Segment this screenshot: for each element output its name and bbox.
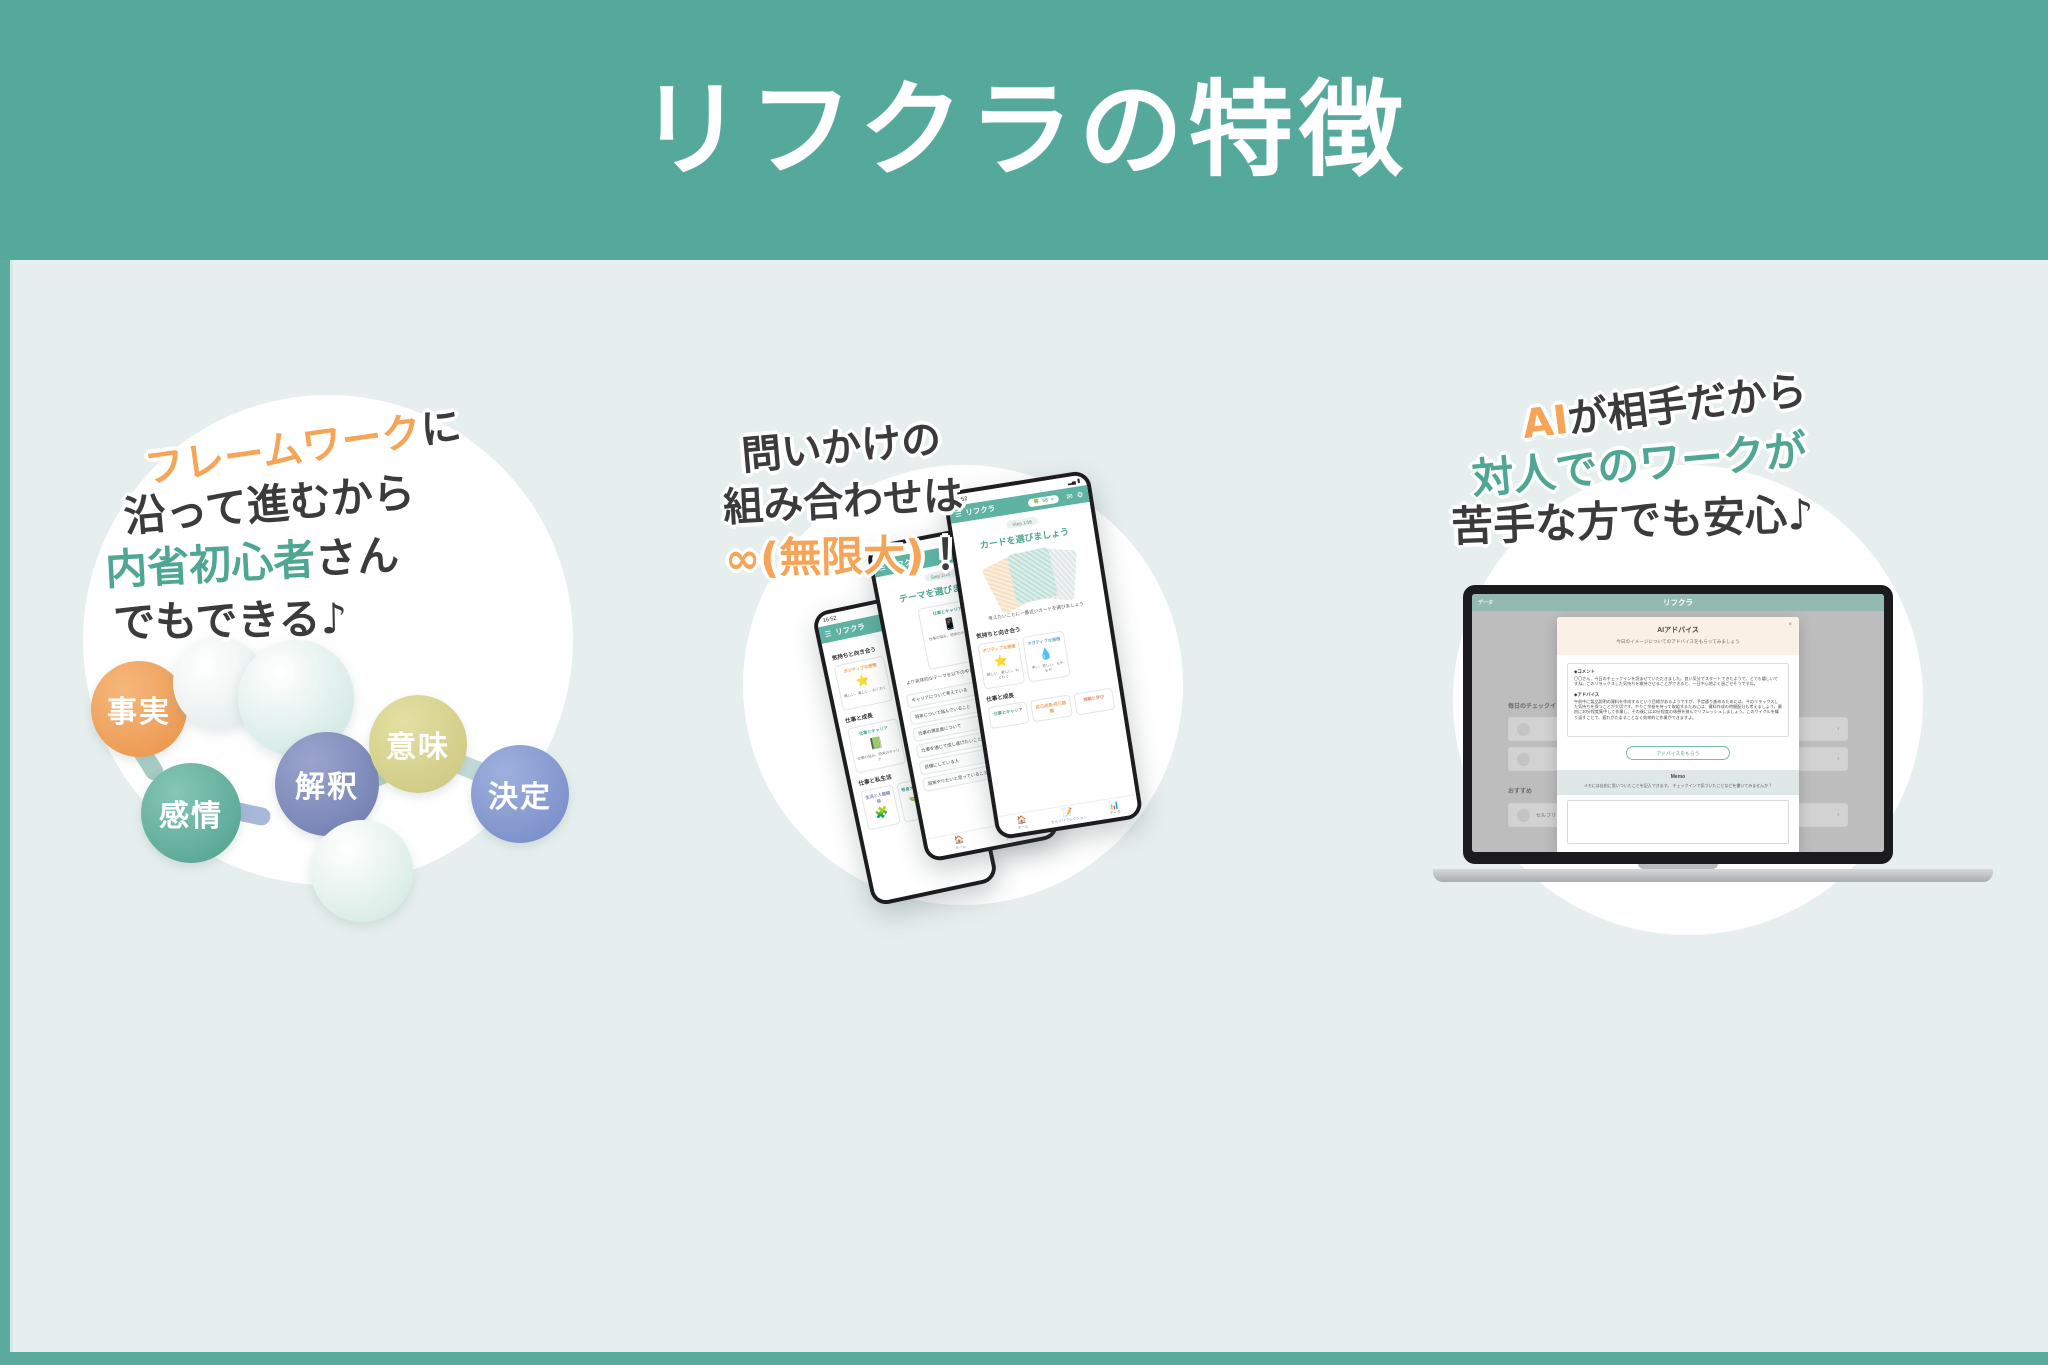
chevron-right-icon: › [1837, 812, 1839, 818]
page-banner: リフクラの特徴 [0, 0, 2048, 260]
node-emotion-label: 感情 [159, 791, 223, 835]
nav-item-reflection[interactable]: 📝 セルフリフレクション [1044, 805, 1092, 826]
panel3-caption-line3: 苦手な方でも安心♪ [1450, 481, 1815, 555]
laptop-topbar-title: リフクラ [1663, 597, 1693, 608]
laptop-bg-section-label-1: 毎日のチェックイン [1508, 701, 1562, 710]
close-icon[interactable]: × [1788, 622, 1792, 628]
phone-front-card-career[interactable]: 仕事とキャリア [988, 701, 1030, 729]
phone-front-card-challenge[interactable]: 挑戦と学び [1073, 688, 1115, 716]
node-blank-bottom [311, 820, 413, 922]
poster-root: リフクラの特徴 事実 感情 解釈 [0, 0, 2048, 1365]
frame-left-edge [0, 260, 10, 1365]
phone-front-points-pill[interactable]: 🍀 58 + [1028, 494, 1060, 507]
body-panel: 事実 感情 解釈 意味 決定 フレームワークに 沿って進むから [10, 260, 2048, 1352]
phone-front-status-icons: ▂▄ ▮ [1067, 478, 1080, 486]
feature-panel-ai: データ リフクラ 毎日のチェックイン › [1393, 335, 2033, 1035]
frame-bottom-edge [0, 1352, 2048, 1365]
feature-panel-questions: 16:52 ▂▄ ▮ ☰ リフクラ 🍀 58 気持ちと向き合う [713, 335, 1313, 1035]
phone-back-time: 16:52 [822, 615, 837, 624]
get-advice-button[interactable]: アドバイスをもらう [1626, 746, 1730, 760]
phone-front-app-title: リフクラ [965, 503, 996, 519]
laptop-mockup: データ リフクラ 毎日のチェックイン › [1463, 585, 1893, 882]
node-decision-label: 決定 [488, 772, 552, 816]
nav-item-data[interactable]: 📊 データ [1090, 798, 1138, 819]
plus-icon[interactable]: + [1050, 496, 1054, 502]
ai-advice-comment-body: 〇〇さん、今日のチェックインを読ませていただきました。良い気分でスタートできたよ… [1574, 676, 1782, 687]
node-interpretation-label: 解釈 [295, 762, 359, 806]
feature-panel-framework: 事実 感情 解釈 意味 決定 フレームワークに 沿って進むから [53, 375, 673, 1015]
star-icon: ⭐ [983, 652, 1020, 670]
phone-back-card-career[interactable]: 仕事とキャリア 📗 仕事の悩み、将来のキャリア [847, 718, 906, 774]
gear-icon[interactable]: ⚙ [1076, 490, 1084, 500]
phone-front-card-growth-title: 自己成長・自己認識 [1034, 700, 1069, 716]
phone-front-card-positive-desc: 嬉しい、楽しい、わくわく [985, 667, 1021, 682]
phone-front-points: 58 [1042, 497, 1048, 504]
memo-section-title: Memo [1557, 770, 1799, 783]
memo-section-note: メモには自由に思いついたことを記入できます。 チェックインで気づいたことなどを書… [1557, 783, 1799, 795]
avatar [1517, 753, 1530, 766]
laptop-topbar: データ リフクラ [1472, 594, 1884, 611]
nav-item-home-label: ホーム [955, 844, 966, 850]
laptop-bg-section-label-2: おすすめ [1508, 786, 1532, 795]
node-emotion[interactable]: 感情 [141, 763, 241, 863]
panel2-caption-line3: ∞(無限大)！ [724, 521, 966, 586]
ai-advice-modal-title: AIアドバイス [1567, 625, 1789, 635]
ai-advice-advice-head: ◆アドバイス [1574, 692, 1782, 698]
node-meaning[interactable]: 意味 [369, 695, 467, 793]
node-meaning-label: 意味 [386, 722, 450, 766]
phone-front-card-challenge-title: 挑戦と学び [1077, 693, 1111, 704]
phone-front-step-badge: Step 1/16 [1006, 516, 1039, 529]
page-title: リフクラの特徴 [639, 78, 1409, 182]
ai-advice-comment-head: ◆コメント [1574, 669, 1782, 675]
phone-back-card-life[interactable]: 生活と人間関係 🧩 [860, 784, 900, 830]
phone-front-card-negative-desc: 辛い、悲しい、もやもや [1030, 660, 1066, 675]
laptop-lid: データ リフクラ 毎日のチェックイン › [1463, 585, 1893, 864]
panel1-caption-line1-tail: に [418, 403, 464, 454]
phone-front-card-growth[interactable]: 自己成長・自己認識 [1030, 694, 1072, 722]
avatar [1517, 723, 1530, 736]
panel2-caption-line3-highlight: ∞(無限大) [725, 531, 925, 583]
ai-advice-modal-subtitle: 今日のイメージについてのアドバイスをもらってみましょう [1567, 639, 1789, 645]
nav-item-data-label: データ [1110, 809, 1121, 815]
laptop-screen: データ リフクラ 毎日のチェックイン › [1472, 594, 1884, 852]
phone-front-card-negative[interactable]: ネガティブな感情 💧 辛い、悲しい、もやもや [1022, 631, 1070, 683]
puzzle-icon: 🧩 [867, 804, 896, 822]
panel3-caption-line3-text: 苦手な方でも安心♪ [1450, 490, 1814, 552]
panel1-caption-line4: でもできる♪ [112, 585, 347, 650]
mail-icon[interactable]: ✉ [1066, 491, 1074, 501]
nav-item-home[interactable]: 🏠 ホーム [998, 812, 1046, 833]
node-fact-label: 事実 [107, 687, 171, 731]
chevron-right-icon: › [1837, 756, 1839, 762]
phone-front-card-positive[interactable]: ポジティブな感情 ⭐ 嬉しい、楽しい、わくわく [977, 638, 1025, 690]
phone-back-card-positive[interactable]: ポジティブな感情 ⭐ 嬉しい、楽しい、わくわく [834, 655, 893, 711]
ai-advice-advice-body: 午前中に製品説明の資料を作成するという目標があるようですが、予定通り進めるために… [1574, 699, 1782, 720]
ai-advice-modal-header: × AIアドバイス 今日のイメージについてのアドバイスをもらってみましょう [1557, 617, 1799, 655]
leaf-icon: 🍀 [1033, 498, 1040, 505]
phone-front-card-career-title: 仕事とキャリア [991, 707, 1025, 718]
panel1-caption-line3-tail: さん [314, 530, 400, 583]
chevron-right-icon: › [1837, 726, 1839, 732]
hamburger-icon[interactable]: ☰ [824, 629, 832, 639]
ai-advice-modal-body: ◆コメント 〇〇さん、今日のチェックインを読ませていただきました。良い気分でスタ… [1557, 655, 1799, 770]
panel2-caption-line3-tail: ！ [924, 530, 967, 580]
memo-textarea[interactable] [1567, 800, 1789, 844]
laptop-app-content: 毎日のチェックイン › › [1472, 611, 1884, 852]
panel1-caption-line4-text: でもできる♪ [113, 594, 348, 647]
ai-advice-modal: × AIアドバイス 今日のイメージについてのアドバイスをもらってみましょう ◆コ… [1557, 617, 1799, 852]
ai-advice-textbox[interactable]: ◆コメント 〇〇さん、今日のチェックインを読ませていただきました。良い気分でスタ… [1567, 663, 1789, 737]
nav-item-home-label: ホーム [1017, 824, 1028, 830]
laptop-topbar-left-label: データ [1478, 599, 1493, 606]
node-decision[interactable]: 決定 [471, 745, 569, 843]
avatar [1517, 809, 1530, 822]
laptop-base [1433, 869, 1993, 882]
